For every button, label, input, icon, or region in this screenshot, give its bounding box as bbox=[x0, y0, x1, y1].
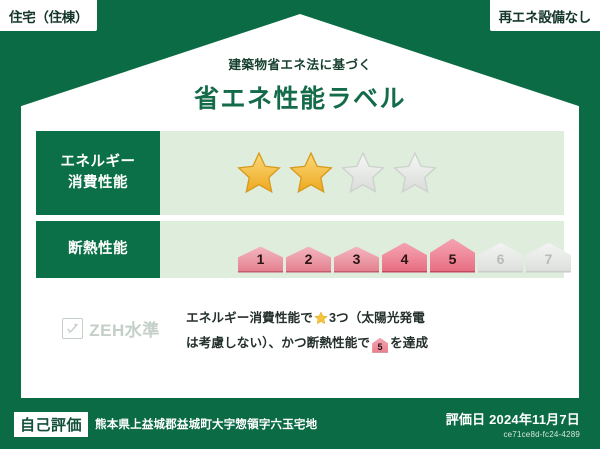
inline-star-icon bbox=[314, 314, 328, 328]
insulation-grade-cell: 2 bbox=[286, 247, 331, 273]
ratings-container: エネルギー 消費性能 断熱性能 1234567 bbox=[36, 131, 564, 284]
title-block: 建築物省エネ法に基づく 省エネ性能ラベル bbox=[0, 54, 600, 115]
insulation-grade-7: 7 bbox=[526, 243, 571, 273]
insulation-grade-cell: 7 bbox=[526, 243, 571, 273]
badge-building-type: 住宅（住棟） bbox=[0, 0, 97, 31]
zeh-desc-part3: を達成 bbox=[390, 336, 428, 350]
label-subtitle: 建築物省エネ法に基づく bbox=[0, 54, 600, 73]
insulation-grade-4: 4 bbox=[382, 243, 427, 273]
insulation-grade-scale: 1234567 bbox=[236, 227, 571, 273]
insulation-grade-1: 1 bbox=[238, 247, 283, 273]
star-rating bbox=[236, 150, 438, 196]
row-label-insulation: 断熱性能 bbox=[36, 221, 160, 278]
zeh-desc-stars: 3つ（太陽光発電 bbox=[329, 311, 425, 325]
star-filled-icon bbox=[236, 150, 282, 196]
star-filled-icon bbox=[288, 150, 334, 196]
self-evaluation-badge: 自己評価 bbox=[14, 412, 88, 437]
row-value-insulation: 1234567 bbox=[160, 221, 571, 278]
row-energy-consumption: エネルギー 消費性能 bbox=[36, 131, 564, 215]
insulation-grade-cell: 6 bbox=[478, 243, 523, 273]
row-label-energy-line2: 消費性能 bbox=[68, 173, 128, 194]
zeh-description: エネルギー消費性能で3つ（太陽光発電は考慮しない）、かつ断熱性能で5を達成 bbox=[186, 304, 564, 354]
zeh-desc-part2: は考慮しない）、かつ断熱性能で bbox=[186, 336, 370, 350]
badge-renewable-equipment: 再エネ設備なし bbox=[490, 0, 600, 31]
page-title: 省エネ性能ラベル bbox=[0, 79, 600, 115]
row-label-energy-consumption: エネルギー 消費性能 bbox=[36, 131, 160, 215]
row-label-energy-line1: エネルギー bbox=[61, 152, 136, 173]
row-value-energy-consumption bbox=[160, 131, 564, 215]
zeh-label: ZEH水準 bbox=[89, 316, 160, 341]
row-insulation-performance: 断熱性能 1234567 bbox=[36, 221, 564, 278]
row-label-insulation-line1: 断熱性能 bbox=[68, 239, 128, 260]
property-address: 熊本県上益城郡益城町大字惣領字六玉宅地 bbox=[95, 416, 317, 432]
footer: 自己評価 熊本県上益城郡益城町大字惣領字六玉宅地 評価日 2024年11月7日 … bbox=[0, 399, 600, 449]
evaluation-date: 評価日 2024年11月7日 bbox=[446, 409, 580, 428]
insulation-grade-cell: 3 bbox=[334, 247, 379, 273]
star-empty-icon bbox=[392, 150, 438, 196]
zeh-section: ZEH水準 エネルギー消費性能で3つ（太陽光発電は考慮しない）、かつ断熱性能で5… bbox=[36, 304, 564, 354]
footer-meta: 評価日 2024年11月7日 ce71ce8d-fc24-4289 bbox=[446, 409, 586, 439]
inline-grade-badge: 5 bbox=[372, 338, 388, 353]
zeh-check-icon bbox=[62, 318, 83, 339]
insulation-grade-cell: 5 bbox=[430, 239, 475, 273]
star-empty-icon bbox=[340, 150, 386, 196]
insulation-grade-2: 2 bbox=[286, 247, 331, 273]
document-id: ce71ce8d-fc24-4289 bbox=[446, 430, 580, 439]
insulation-grade-6: 6 bbox=[478, 243, 523, 273]
insulation-grade-cell: 1 bbox=[238, 247, 283, 273]
insulation-grade-5: 5 bbox=[430, 239, 475, 273]
insulation-grade-cell: 4 bbox=[382, 243, 427, 273]
zeh-mark: ZEH水準 bbox=[36, 304, 186, 341]
insulation-grade-3: 3 bbox=[334, 247, 379, 273]
zeh-desc-part1: エネルギー消費性能で bbox=[186, 311, 313, 325]
energy-performance-label: 住宅（住棟） 再エネ設備なし 建築物省エネ法に基づく 省エネ性能ラベル エネルギ… bbox=[0, 0, 600, 449]
